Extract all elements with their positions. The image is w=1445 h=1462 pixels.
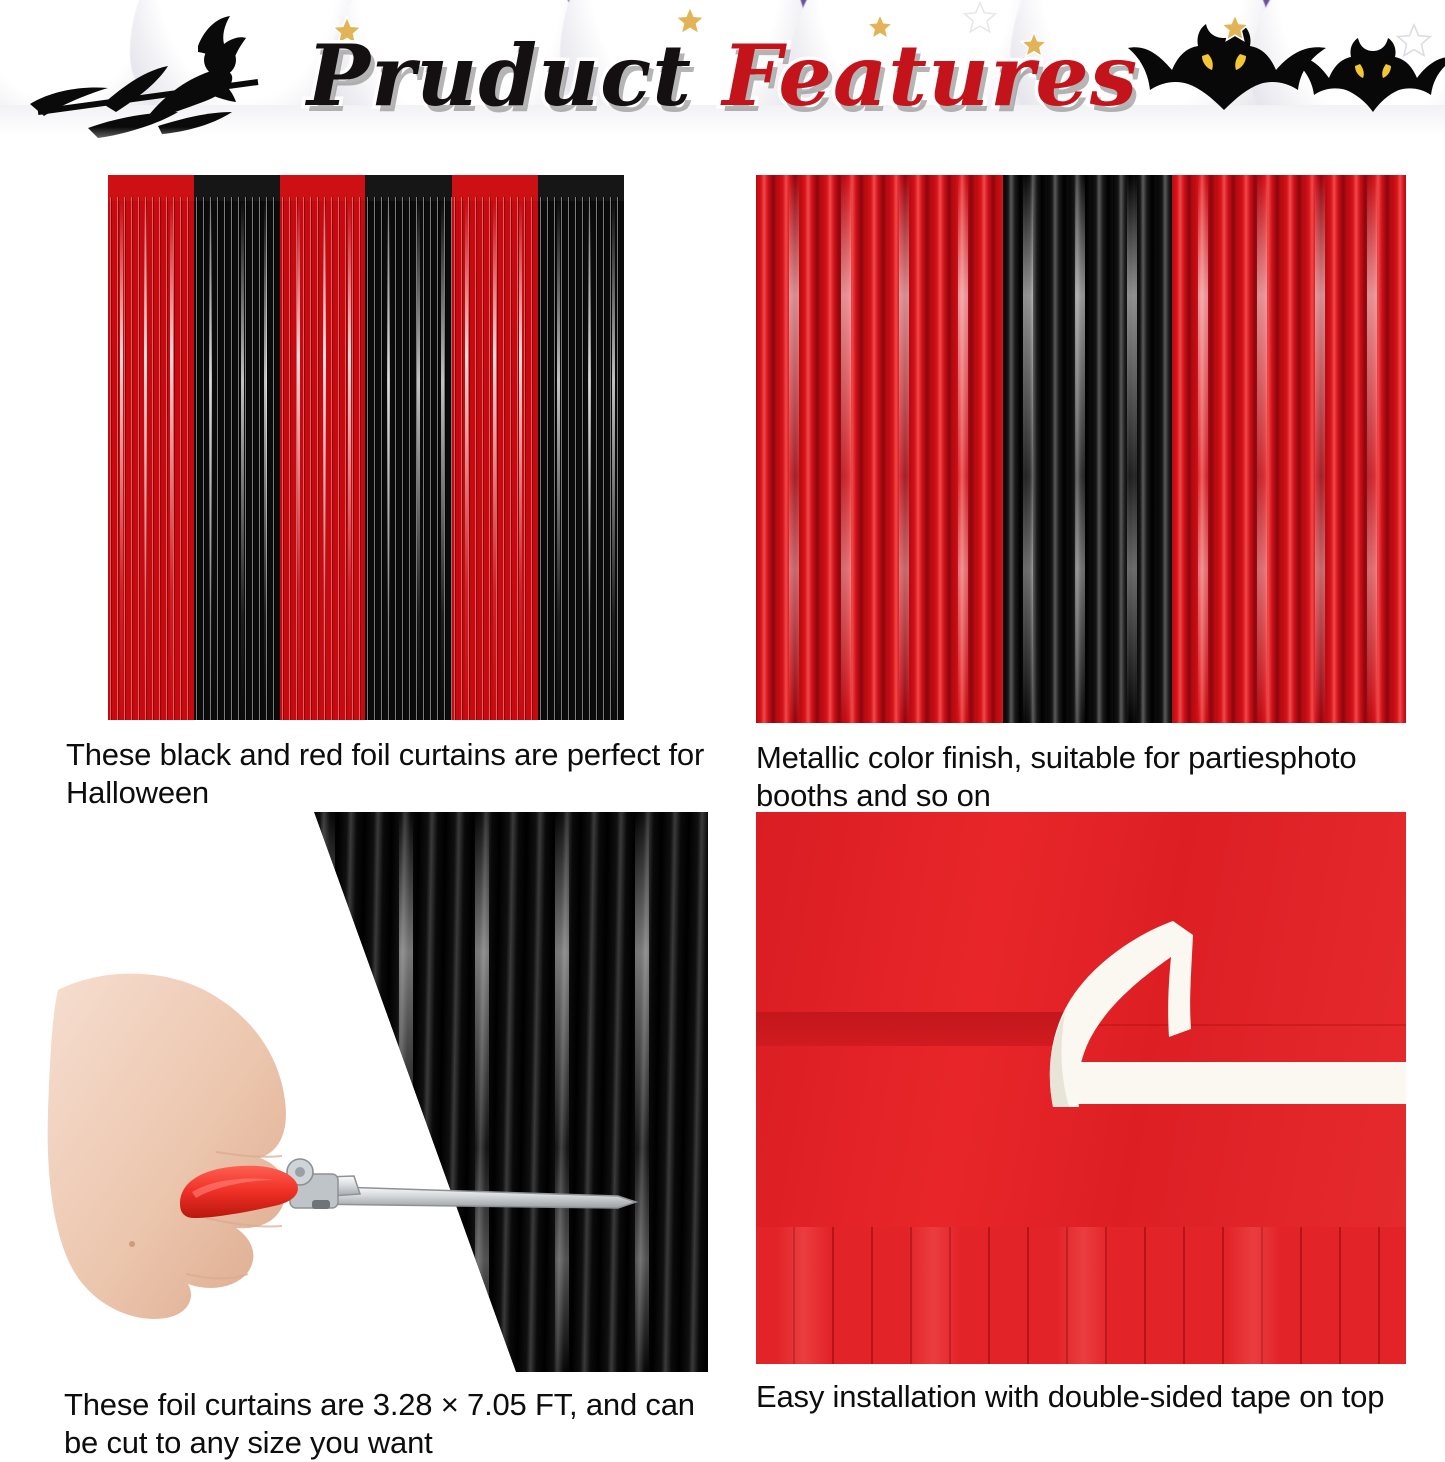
feature-grid: These black and red foil curtains are pe… <box>0 157 1445 1436</box>
feature-card-metallic-finish: Metallic color finish, suitable for part… <box>740 175 1410 820</box>
feature-card-cuttable-size: These foil curtains are 3.28 × 7.05 FT, … <box>28 812 708 1422</box>
tape-peeling-edge <box>1041 917 1201 1107</box>
feature-caption-double-sided-tape: Easy installation with double-sided tape… <box>756 1378 1436 1416</box>
scissors-icon <box>178 1132 638 1252</box>
header-banner: Pruduct Features <box>0 0 1445 157</box>
cutting-curtain-photo <box>28 812 708 1372</box>
double-sided-tape-photo <box>756 812 1406 1364</box>
feature-card-double-sided-tape: Easy installation with double-sided tape… <box>740 812 1410 1422</box>
striped-curtain-photo <box>108 175 624 720</box>
metallic-finish-photo <box>756 175 1406 723</box>
feature-caption-cuttable-size: These foil curtains are 3.28 × 7.05 FT, … <box>64 1386 724 1462</box>
page-title-part-1: Pruduct <box>307 26 692 125</box>
feature-card-striped-curtains: These black and red foil curtains are pe… <box>40 175 700 820</box>
page-title: Pruduct Features <box>0 34 1445 118</box>
page-title-part-2: Features <box>722 26 1138 125</box>
feature-caption-striped-curtains: These black and red foil curtains are pe… <box>66 736 711 812</box>
feature-caption-metallic-finish: Metallic color finish, suitable for part… <box>756 739 1436 815</box>
